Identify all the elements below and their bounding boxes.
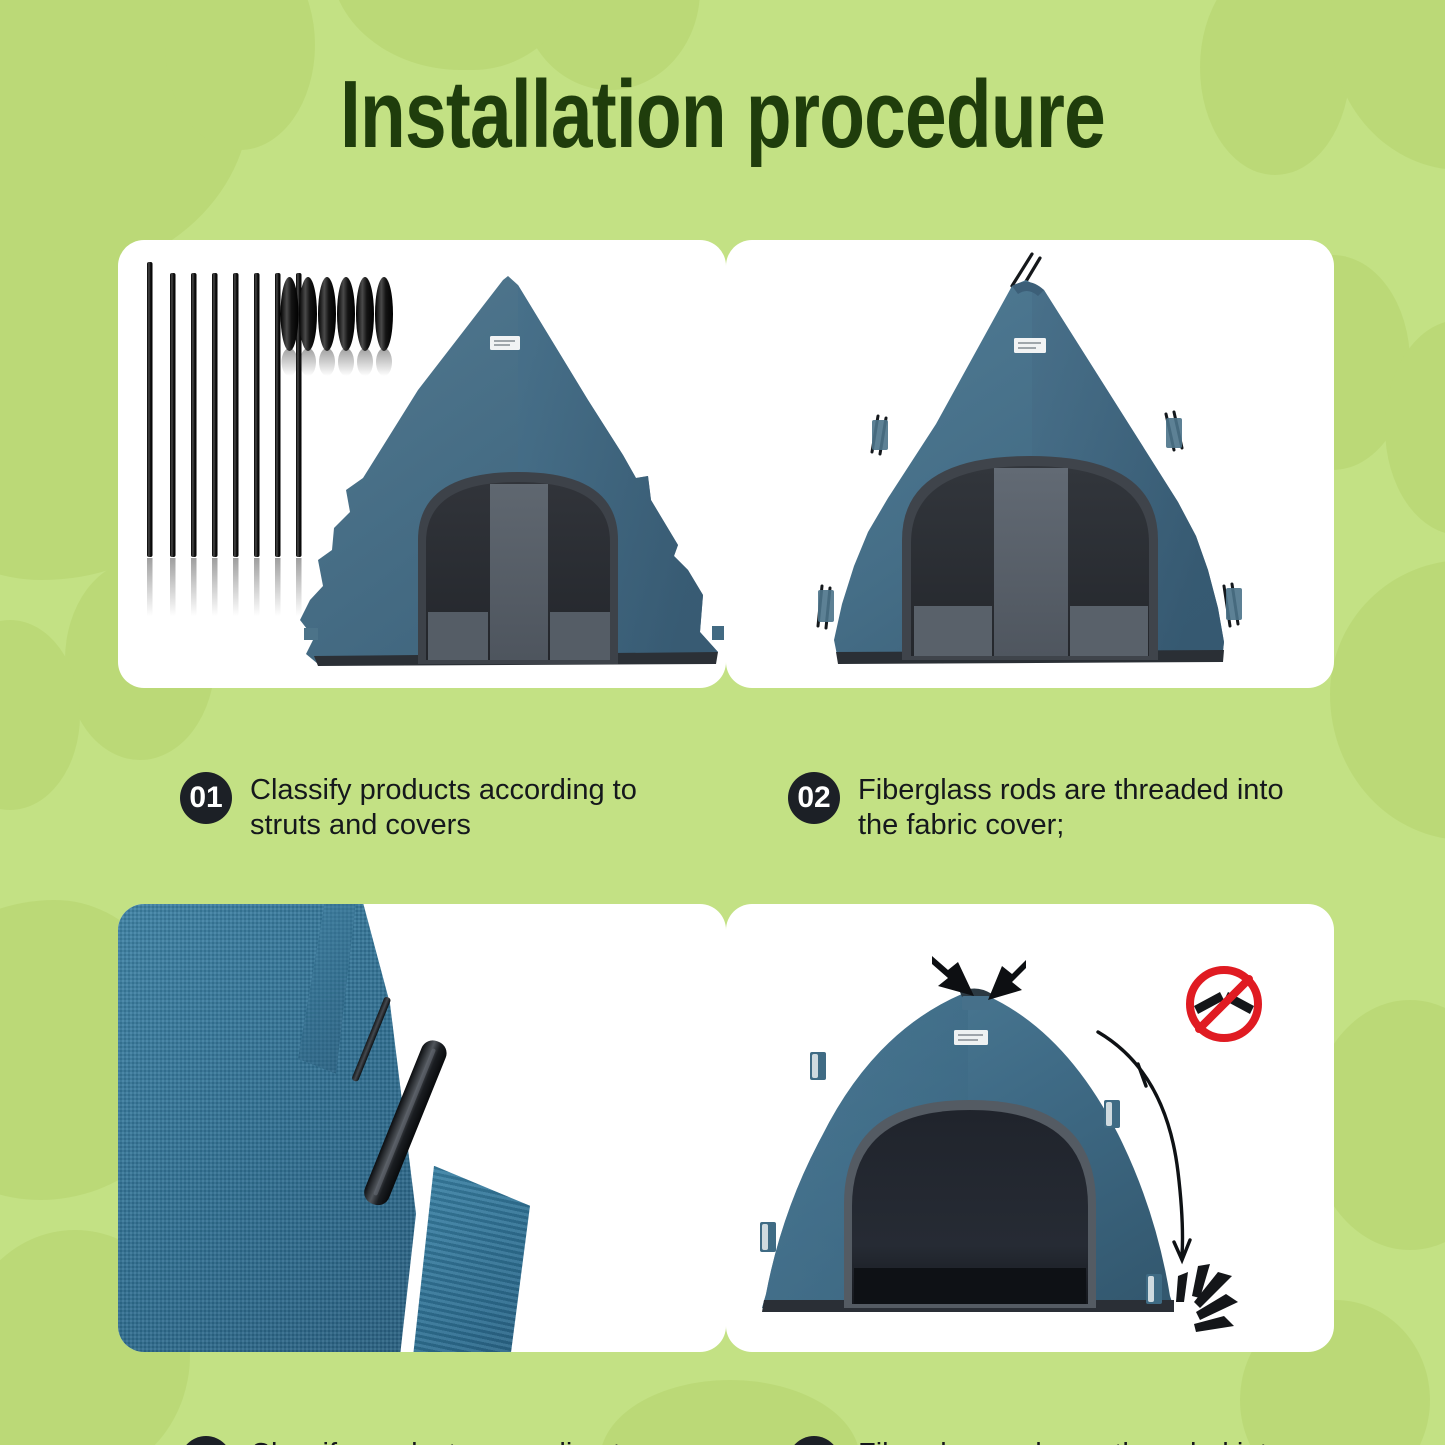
step-cell-2: 02 Fiberglass rods are threaded into the… <box>726 240 1334 844</box>
no-broken-rod-warning-icon <box>1190 970 1258 1038</box>
infographic-page: Installation procedure <box>0 0 1445 1445</box>
page-title: Installation procedure <box>159 60 1286 170</box>
steps-row-bottom: 01 Classify products according to struts… <box>118 904 1330 1445</box>
steps-row-top: 01 Classify products according to struts… <box>118 240 1330 844</box>
parts-layout-photo <box>118 240 726 688</box>
step-caption-3: 01 Classify products according to struts… <box>180 1434 710 1445</box>
step-caption-2: 02 Fiberglass rods are threaded into the… <box>788 770 1318 844</box>
step-text-4: Fiberglass rods are threaded into the fa… <box>858 1434 1318 1445</box>
step-caption-4: 02 Fiberglass rods are threaded into the… <box>788 1434 1318 1445</box>
step-cell-3: 01 Classify products according to struts… <box>118 904 726 1445</box>
impact-marks <box>1176 1264 1238 1332</box>
rod-connector-sleeve <box>361 1037 451 1209</box>
step-number-badge-3: 01 <box>180 1436 232 1445</box>
press-down-arrow-left <box>932 956 974 996</box>
fiberglass-rod-group <box>147 262 302 616</box>
step-number-badge-4: 02 <box>788 1436 840 1445</box>
assembled-tent-illustration <box>726 904 1334 1352</box>
step-text-2: Fiberglass rods are threaded into the fa… <box>858 770 1318 844</box>
assembled-tent-photo <box>726 904 1334 1352</box>
closeup-rod-illustration <box>118 904 726 1352</box>
fabric-sleeve-closeup-photo <box>118 904 726 1352</box>
threaded-tent-illustration <box>726 240 1334 688</box>
brand-label <box>954 1030 988 1045</box>
step-number-badge-2: 02 <box>788 772 840 824</box>
step-text-1: Classify products according to struts an… <box>250 770 710 844</box>
rods-threaded-photo <box>726 240 1334 688</box>
brand-label <box>1014 338 1046 353</box>
press-down-arrow-right <box>988 960 1026 1000</box>
exposed-rod <box>351 996 391 1082</box>
step-cell-4: 02 Fiberglass rods are threaded into the… <box>726 904 1334 1445</box>
step-number-badge-1: 01 <box>180 772 232 824</box>
step-caption-1: 01 Classify products according to struts… <box>180 770 710 844</box>
parts-illustration <box>118 240 726 688</box>
step-text-3: Classify products according to struts an… <box>250 1434 710 1445</box>
brand-label <box>490 336 520 350</box>
step-cell-1: 01 Classify products according to struts… <box>118 240 726 844</box>
steps-grid: 01 Classify products according to struts… <box>118 240 1330 1445</box>
